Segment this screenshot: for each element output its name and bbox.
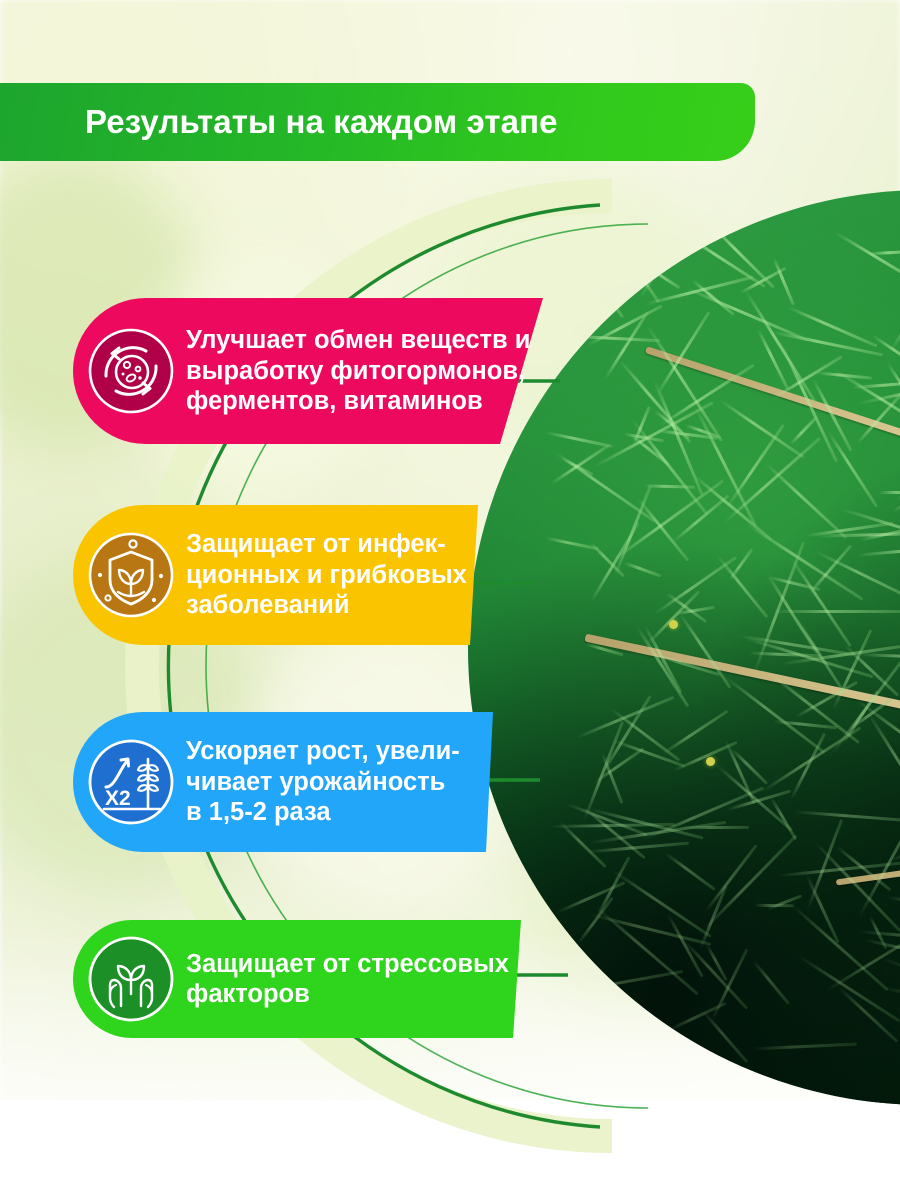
photo-needle [752,1042,857,1050]
feature-badge-metabolism[interactable]: Улучшает обмен веществ и выработку фитог… [73,298,553,444]
feature-badge-text: Ускоряет рост, увели- чивает урожайность… [186,736,460,827]
feature-badge-stress-protection[interactable]: Защищает от стрессовых факторов [73,920,528,1038]
photo-needle [559,821,606,868]
photo-needle [887,896,900,909]
photo-needle [770,797,797,841]
photo-needle [595,857,631,921]
metabolism-cycle-icon [88,328,174,414]
photo-needle [723,436,821,523]
photo-needle [754,904,794,907]
shield-sprout-icon [88,532,174,618]
photo-bud-dot [706,757,715,766]
photo-needle [787,305,878,347]
multiplier-label: X2 [105,787,131,810]
photo-needle [856,544,900,557]
photo-needle [827,431,878,508]
photo-needle [683,940,748,1010]
photo-needle [790,733,826,800]
background-bottom-white [0,1100,900,1200]
photo-needle [612,480,724,562]
photo-needle [835,231,900,290]
photo-needle [571,335,660,342]
growth-x2-wheat-icon: X2 [88,739,174,825]
photo-needle [772,331,883,357]
page-title: Результаты на каждом этапе [0,103,558,141]
feature-badge-disease-protection[interactable]: Защищает от инфек- ционных и грибковых з… [73,505,488,645]
photo-needle [623,561,661,577]
photo-needle [667,913,704,978]
photo-needle [673,741,738,772]
photo-needle [673,495,730,543]
photo-needle [636,626,690,708]
photo-needle [881,957,900,1008]
photo-needle [791,904,888,991]
photo-needle [729,549,754,582]
photo-bud-dot [669,620,678,629]
photo-needle [752,960,790,1005]
photo-needle [645,275,754,305]
photo-needle [557,882,626,914]
photo-needle [640,206,699,298]
photo-needle [589,522,640,604]
hands-sprout-icon [88,936,174,1022]
header-banner: Результаты на каждом этапе [0,83,755,161]
feature-badge-text: Улучшает обмен веществ и выработку фитог… [186,325,530,416]
feature-badge-text: Защищает от инфек- ционных и грибковых з… [186,529,467,620]
photo-needle [665,851,717,890]
poster-root: Результаты на каждом этапе [0,0,900,1200]
photo-needle [554,1009,633,1020]
photo-needle [590,998,643,1060]
photo-needle [879,490,900,493]
photo-needle [636,498,689,562]
photo-needle [572,970,683,993]
photo-needle [719,399,804,458]
photo-needle [583,722,624,822]
feature-badge-text: Защищает от стрессовых факторов [186,949,509,1010]
feature-badge-growth-yield[interactable]: X2 Ускоряет рост, увели- чивает урожайно… [73,712,510,852]
photo-needle [542,246,636,260]
photo-needle [701,1010,748,1063]
photo-needle [858,652,900,659]
photo-needle [794,810,900,822]
photo-needle [772,257,795,305]
